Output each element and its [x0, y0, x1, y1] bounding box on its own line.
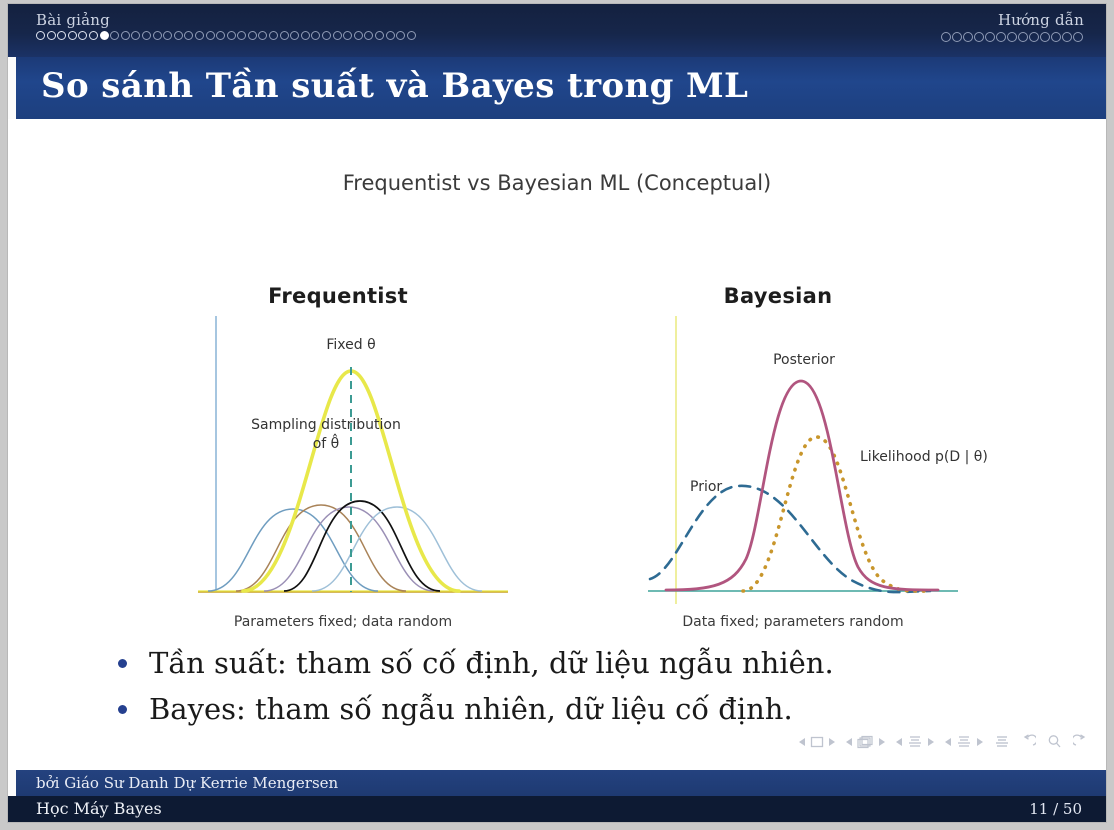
sample-curve-2 — [236, 505, 406, 591]
slide-dot[interactable] — [237, 31, 246, 40]
prev-section-icon[interactable] — [945, 738, 951, 746]
slide-dot[interactable] — [174, 31, 183, 40]
beamer-navigation-symbols[interactable] — [799, 734, 1088, 749]
footer-institute-text: Học Máy Bayes — [36, 799, 162, 818]
list-item: Bayes: tham số ngẫu nhiên, dữ liệu cố đị… — [118, 692, 1018, 726]
list-item: Tần suất: tham số cố định, dữ liệu ngẫu … — [118, 646, 1018, 680]
slide-progress-dots-right[interactable] — [941, 32, 1084, 42]
frequentist-chart: Fixed θ Sampling distribution of θ̂ — [188, 309, 528, 614]
section-lines-icon[interactable] — [956, 735, 972, 748]
slide-dot[interactable] — [47, 31, 56, 40]
section-nav-group[interactable] — [945, 735, 983, 748]
slide-dot[interactable] — [354, 31, 363, 40]
slide-dot[interactable] — [100, 31, 109, 40]
panel-heading-bayesian: Bayesian — [598, 284, 958, 308]
next-frame-icon[interactable] — [879, 738, 885, 746]
header-section-huong-dan[interactable]: Hướng dẫn — [941, 11, 1084, 42]
slide-dot[interactable] — [952, 32, 962, 42]
slide-dot[interactable] — [333, 31, 342, 40]
panel-heading-frequentist: Frequentist — [158, 284, 518, 308]
slide-dot[interactable] — [184, 31, 193, 40]
slide-dot[interactable] — [290, 31, 299, 40]
slide-frame: Bài giảng Hướng dẫn So sánh Tần suất và … — [8, 4, 1106, 822]
label-posterior: Posterior — [773, 352, 835, 368]
slide-nav-group[interactable] — [799, 736, 835, 748]
slide-dot[interactable] — [963, 32, 973, 42]
label-sampling-distribution-line1: Sampling distribution — [251, 417, 401, 433]
slide-dot[interactable] — [996, 32, 1006, 42]
next-section-icon[interactable] — [977, 738, 983, 746]
header-section-label-left: Bài giảng — [36, 11, 417, 29]
slide-dot[interactable] — [78, 31, 87, 40]
footer-author-bar: bởi Giáo Sư Danh Dự Kerrie Mengersen — [8, 770, 1106, 796]
slide-dot[interactable] — [985, 32, 995, 42]
slide-dot[interactable] — [216, 31, 225, 40]
next-subsection-icon[interactable] — [928, 738, 934, 746]
slide-dot[interactable] — [121, 31, 130, 40]
slide-dot[interactable] — [163, 31, 172, 40]
frames-stack-icon[interactable] — [857, 735, 874, 749]
page-title: So sánh Tần suất và Bayes trong ML — [41, 66, 748, 106]
slide-dot[interactable] — [375, 31, 384, 40]
slide-dot[interactable] — [386, 31, 395, 40]
slide-body: Frequentist vs Bayesian ML (Conceptual) … — [8, 119, 1106, 770]
label-sampling-distribution-line2: of θ̂ — [313, 433, 340, 452]
next-slide-icon[interactable] — [829, 738, 835, 746]
slide-dot[interactable] — [1062, 32, 1072, 42]
slide-dot[interactable] — [258, 31, 267, 40]
caption-frequentist: Parameters fixed; data random — [148, 614, 538, 630]
slide-dot[interactable] — [322, 31, 331, 40]
slide-dot[interactable] — [941, 32, 951, 42]
subsection-nav-group[interactable] — [896, 735, 934, 748]
document-icon[interactable] — [994, 735, 1010, 748]
header-section-bai-giang[interactable]: Bài giảng — [36, 11, 417, 40]
slide-dot[interactable] — [131, 31, 140, 40]
forward-icon[interactable] — [1073, 734, 1088, 749]
slide-dot[interactable] — [1040, 32, 1050, 42]
slide-dot[interactable] — [57, 31, 66, 40]
figure-title: Frequentist vs Bayesian ML (Conceptual) — [8, 171, 1106, 195]
slide-dot[interactable] — [974, 32, 984, 42]
slide-dot[interactable] — [89, 31, 98, 40]
slide-progress-dots-left[interactable] — [36, 31, 417, 40]
bullet-dot-icon — [118, 705, 127, 714]
slide-dot[interactable] — [407, 31, 416, 40]
slide-dot[interactable] — [36, 31, 45, 40]
sample-curve-5 — [312, 507, 482, 591]
slide-dot[interactable] — [396, 31, 405, 40]
footer-left-edge — [8, 770, 16, 796]
presentation-slide: Bài giảng Hướng dẫn So sánh Tần suất và … — [0, 0, 1114, 830]
navigation-header-bar: Bài giảng Hướng dẫn — [8, 4, 1106, 57]
slide-dot[interactable] — [343, 31, 352, 40]
bullet-list: Tần suất: tham số cố định, dữ liệu ngẫu … — [118, 646, 1018, 738]
slide-dot[interactable] — [227, 31, 236, 40]
slide-dot[interactable] — [311, 31, 320, 40]
slide-frame-icon[interactable] — [810, 736, 824, 748]
slide-dot[interactable] — [153, 31, 162, 40]
prev-frame-icon[interactable] — [846, 738, 852, 746]
slide-dot[interactable] — [301, 31, 310, 40]
slide-dot[interactable] — [1029, 32, 1039, 42]
title-bar-left-edge — [8, 57, 16, 119]
slide-dot[interactable] — [248, 31, 257, 40]
slide-dot[interactable] — [195, 31, 204, 40]
slide-dot[interactable] — [110, 31, 119, 40]
bayesian-chart: Posterior Prior Likelihood p(D | θ) — [638, 309, 1008, 614]
search-icon[interactable] — [1047, 734, 1062, 749]
bullet-dot-icon — [118, 659, 127, 668]
footer-page-number: 11 / 50 — [1029, 800, 1082, 818]
label-likelihood: Likelihood p(D | θ) — [860, 449, 988, 465]
label-fixed-theta: Fixed θ — [326, 337, 375, 353]
slide-dot[interactable] — [142, 31, 151, 40]
slide-dot[interactable] — [1007, 32, 1017, 42]
slide-title-bar: So sánh Tần suất và Bayes trong ML — [8, 57, 1106, 119]
footer-institute-bar: Học Máy Bayes 11 / 50 — [8, 796, 1106, 822]
prev-subsection-icon[interactable] — [896, 738, 902, 746]
bullet-text: Bayes: tham số ngẫu nhiên, dữ liệu cố đị… — [149, 692, 793, 726]
prev-slide-icon[interactable] — [799, 738, 805, 746]
slide-dot[interactable] — [206, 31, 215, 40]
frame-nav-group[interactable] — [846, 735, 885, 749]
back-icon[interactable] — [1021, 734, 1036, 749]
footer-author-text: bởi Giáo Sư Danh Dự Kerrie Mengersen — [36, 774, 338, 792]
slide-dot[interactable] — [1018, 32, 1028, 42]
slide-dot[interactable] — [68, 31, 77, 40]
bullet-text: Tần suất: tham số cố định, dữ liệu ngẫu … — [149, 646, 834, 680]
slide-dot[interactable] — [1073, 32, 1083, 42]
label-prior: Prior — [690, 479, 722, 495]
slide-dot[interactable] — [269, 31, 278, 40]
prior-curve — [650, 486, 930, 592]
subsection-lines-icon[interactable] — [907, 735, 923, 748]
slide-dot[interactable] — [364, 31, 373, 40]
slide-dot[interactable] — [280, 31, 289, 40]
caption-bayesian: Data fixed; parameters random — [608, 614, 978, 630]
header-section-label-right: Hướng dẫn — [941, 11, 1084, 29]
slide-dot[interactable] — [1051, 32, 1061, 42]
